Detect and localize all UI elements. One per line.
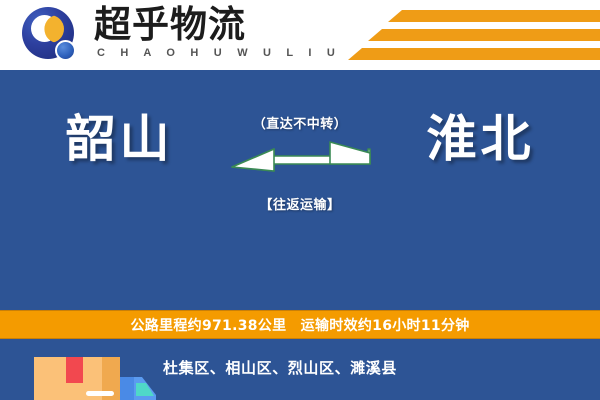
chaohu-logistics-logo-icon	[22, 7, 78, 63]
coverage-districts-text: 杜集区、相山区、烈山区、濉溪县	[163, 357, 397, 378]
route-middle-block: （直达不中转） 【往返运输】	[225, 106, 375, 224]
stripe-3	[348, 48, 600, 60]
bidirectional-arrow-icon	[230, 140, 372, 180]
direct-shipping-tag: （直达不中转）	[225, 113, 375, 132]
stripe-2	[368, 29, 600, 41]
brand-name-cn: 超乎物流	[94, 4, 246, 46]
route-info-bar: 公路里程约971.38公里 运输时效约16小时11分钟	[0, 310, 600, 339]
header-stripes-decoration	[300, 8, 600, 64]
round-trip-tag: 【往返运输】	[225, 194, 375, 213]
route-info-text: 公路里程约971.38公里 运输时效约16小时11分钟	[130, 315, 469, 335]
destination-city: 淮北	[373, 108, 588, 170]
delivery-truck-icon	[24, 349, 172, 400]
origin-city: 韶山	[12, 108, 227, 170]
logistics-route-banner: 超乎物流 C H A O H U W U L I U 韶山 （直达不中转）	[0, 0, 600, 400]
logo-small-circle	[55, 40, 76, 61]
stripe-1	[388, 10, 600, 22]
route-area: 韶山 （直达不中转） 【往返运输】 淮北	[0, 70, 600, 240]
banner-header: 超乎物流 C H A O H U W U L I U	[0, 0, 600, 70]
main-blue-panel: 韶山 （直达不中转） 【往返运输】 淮北 公路里程约971.38公里 运输时效约…	[0, 70, 600, 400]
